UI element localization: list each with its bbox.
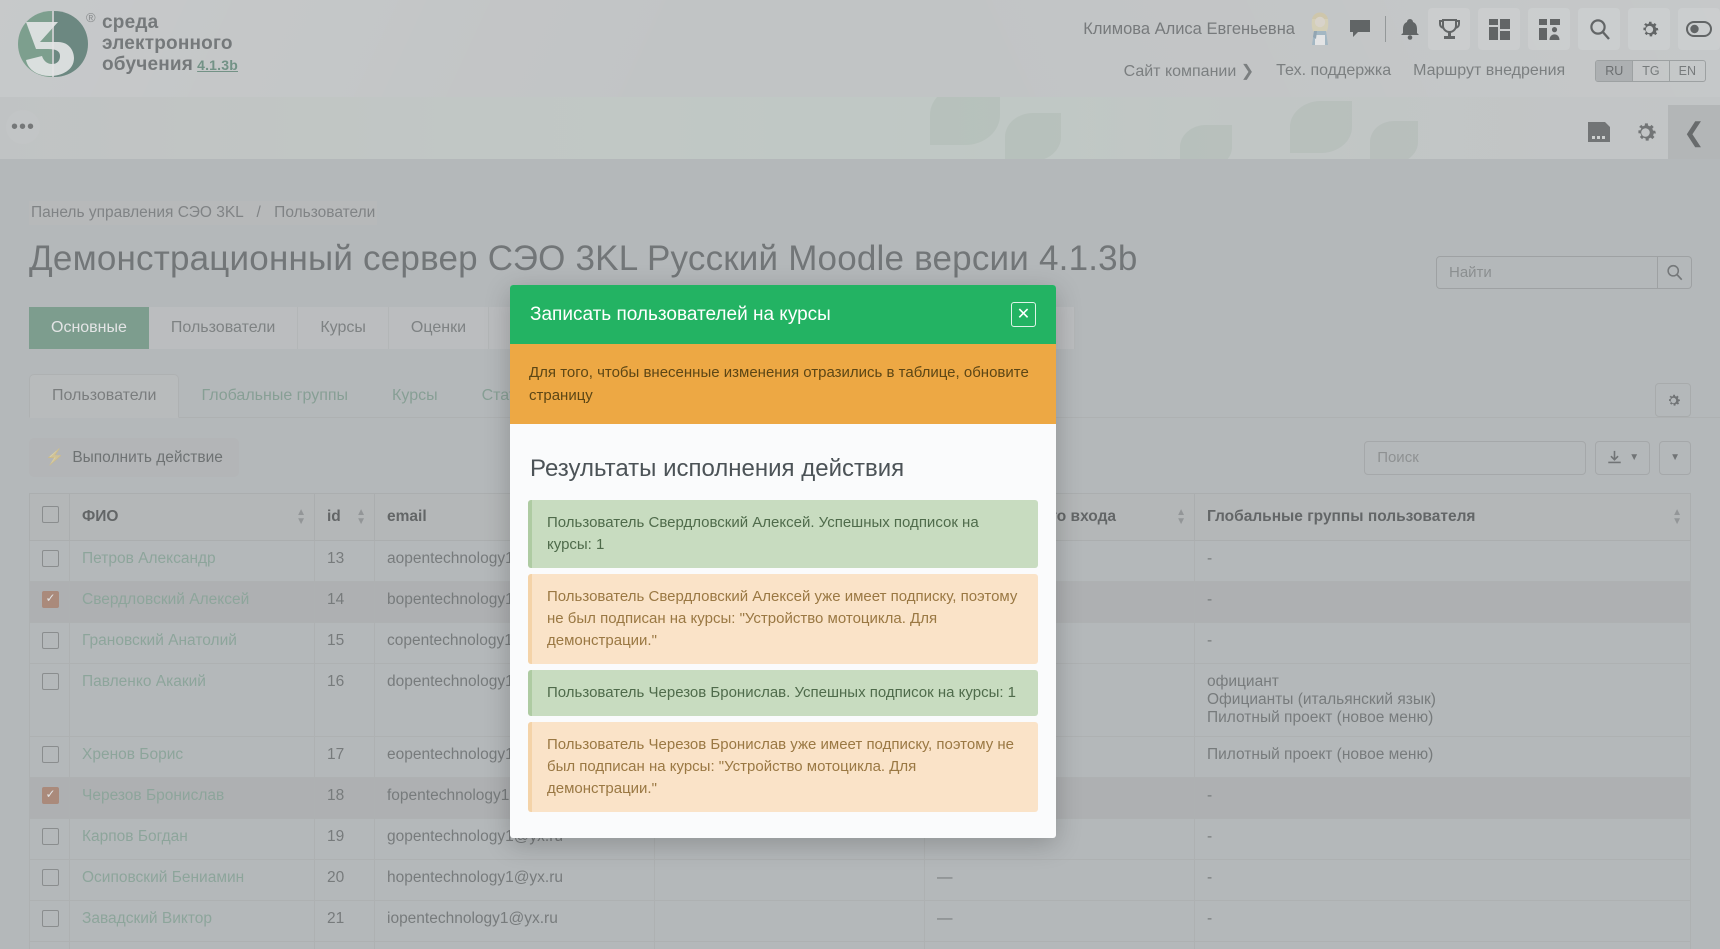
user-name-label: Климова Алиса Евгеньевна	[1083, 20, 1295, 39]
modal-header: Записать пользователей на курсы ✕	[510, 285, 1056, 344]
group-entry: Пилотный проект (новое меню)	[1207, 709, 1678, 727]
chevron-down-icon: ❯	[1241, 63, 1254, 80]
row-checkbox-cell[interactable]	[30, 778, 70, 819]
group-entry: -	[1207, 910, 1678, 928]
table-toolbar-right: ▼ ▼	[1364, 441, 1691, 475]
global-find	[1436, 256, 1692, 289]
modal-results-heading: Результаты исполнения действия	[530, 455, 1038, 483]
row-id-cell: 15	[315, 623, 375, 664]
row-email-cell: mhin@yx.ru	[375, 942, 655, 949]
user-link[interactable]: Петров Александр	[82, 550, 216, 567]
logo-line-3: обучения	[102, 54, 193, 75]
table-row[interactable]: Завадский Виктор21iopentechnology1@yx.ru…	[30, 901, 1691, 942]
row-checkbox-cell[interactable]	[30, 942, 70, 949]
row-name-cell: Осиповский Бениамин	[70, 860, 315, 901]
row-name-cell: Тестов Тест	[70, 942, 315, 949]
logo-3kl-icon: ®	[14, 8, 92, 80]
subtab-courses[interactable]: Курсы	[370, 375, 460, 417]
row-checkbox[interactable]	[42, 591, 59, 608]
breadcrumb-item-users[interactable]: Пользователи	[274, 204, 375, 221]
row-checkbox[interactable]	[42, 746, 59, 763]
row-id-cell: 16	[315, 664, 375, 737]
row-checkbox-cell[interactable]	[30, 541, 70, 582]
row-groups-cell: -	[1195, 582, 1691, 623]
top-header-bar: ® среда электронного обучения 4.1.3b Кли…	[0, 0, 1720, 97]
result-message: Пользователь Свердловский Алексей. Успеш…	[528, 500, 1038, 568]
user-link[interactable]: Осиповский Бениамин	[82, 869, 244, 886]
row-groups-cell: -	[1195, 778, 1691, 819]
lightning-icon: ⚡	[45, 448, 64, 467]
tab-kursy[interactable]: Курсы	[298, 307, 389, 349]
row-checkbox[interactable]	[42, 673, 59, 690]
row-groups-cell: -	[1195, 819, 1691, 860]
result-message: Пользователь Черезов Бронислав. Успешных…	[528, 670, 1038, 716]
row-name-cell: Павленко Акакий	[70, 664, 315, 737]
row-groups-cell: -	[1195, 541, 1691, 582]
page-banner	[0, 97, 1720, 159]
col-groups-label: Глобальные группы пользователя	[1207, 508, 1475, 525]
lang-ru[interactable]: RU	[1596, 61, 1632, 81]
group-entry: официант	[1207, 673, 1678, 691]
row-checkbox-cell[interactable]	[30, 737, 70, 778]
group-entry: -	[1207, 591, 1678, 609]
row-id-cell: 17	[315, 737, 375, 778]
row-last-login-cell: —	[925, 860, 1195, 901]
row-checkbox-cell[interactable]	[30, 860, 70, 901]
header-divider	[1385, 16, 1386, 42]
app-root: ® среда электронного обучения 4.1.3b Кли…	[0, 0, 1720, 949]
execute-action-label: Выполнить действие	[72, 449, 223, 467]
tab-polzovateli[interactable]: Пользователи	[149, 307, 298, 349]
row-checkbox-cell[interactable]	[30, 582, 70, 623]
row-groups-cell: -	[1195, 901, 1691, 942]
group-entry: -	[1207, 828, 1678, 846]
table-row[interactable]: Осиповский Бениамин20hopentechnology1@yx…	[30, 860, 1691, 901]
banner-more-button[interactable]: •••	[6, 110, 40, 144]
header-secondary-nav: Сайт компании ❯ Тех. поддержка Маршрут в…	[1124, 60, 1706, 82]
user-link[interactable]: Карпов Богдан	[82, 828, 188, 845]
columns-settings-icon[interactable]	[1655, 383, 1691, 417]
users-grid-icon[interactable]	[1528, 8, 1570, 50]
row-checkbox-cell[interactable]	[30, 664, 70, 737]
row-checkbox-cell[interactable]	[30, 819, 70, 860]
breadcrumb-item-dashboard[interactable]: Панель управления СЭО 3KL	[31, 204, 243, 221]
row-id-cell: 20	[315, 860, 375, 901]
message-icon[interactable]	[1349, 19, 1371, 39]
search-input[interactable]	[1364, 441, 1586, 475]
row-name-cell: Карпов Богдан	[70, 819, 315, 860]
col-id-label: id	[327, 508, 341, 525]
row-id-cell: 19	[315, 819, 375, 860]
row-name-cell: Свердловский Алексей	[70, 582, 315, 623]
logo-line-2: электронного	[102, 33, 238, 54]
group-entry: Официанты (итальянский язык)	[1207, 691, 1678, 709]
sort-icon: ▲▼	[356, 508, 366, 526]
row-last-login-cell: —	[925, 901, 1195, 942]
logo-line-1: среда	[102, 12, 238, 33]
find-input[interactable]	[1436, 256, 1658, 289]
nav-site-company-label: Сайт компании	[1124, 63, 1237, 80]
row-groups-cell: -	[1195, 942, 1691, 949]
export-button[interactable]: ▼	[1595, 441, 1650, 475]
nav-support[interactable]: Тех. поддержка	[1276, 62, 1391, 80]
row-groups-cell: официантОфицианты (итальянский язык)Пило…	[1195, 664, 1691, 737]
table-row[interactable]: Тестов Тест22mhin@yx.ru—-	[30, 942, 1691, 949]
row-checkbox[interactable]	[42, 828, 59, 845]
col-fio-label: ФИО	[82, 508, 118, 525]
lang-tg[interactable]: TG	[1632, 61, 1668, 81]
row-id-cell: 22	[315, 942, 375, 949]
nav-site-company[interactable]: Сайт компании ❯	[1124, 61, 1255, 81]
toggle-icon[interactable]	[1678, 8, 1720, 50]
row-id-cell: 18	[315, 778, 375, 819]
nav-rollout[interactable]: Маршрут внедрения	[1413, 62, 1565, 80]
result-message: Пользователь Черезов Бронислав уже имеет…	[528, 722, 1038, 812]
sort-icon: ▲▼	[296, 508, 306, 526]
collapse-left-icon[interactable]: ❮	[1668, 105, 1720, 159]
bell-icon[interactable]	[1400, 18, 1420, 40]
user-link[interactable]: Хренов Борис	[82, 746, 183, 763]
row-id-cell: 13	[315, 541, 375, 582]
more-options-button[interactable]: ▼	[1659, 441, 1691, 475]
col-email-label: email	[387, 508, 427, 525]
lang-en[interactable]: EN	[1669, 61, 1705, 81]
sort-icon: ▲▼	[1176, 508, 1186, 526]
registered-mark: ®	[86, 10, 96, 25]
find-search-icon[interactable]	[1658, 256, 1692, 289]
group-entry: -	[1207, 869, 1678, 887]
gear-icon[interactable]	[1622, 109, 1668, 155]
row-groups-cell: -	[1195, 860, 1691, 901]
modal-title: Записать пользователей на курсы	[530, 304, 831, 326]
select-all-checkbox[interactable]	[42, 506, 59, 523]
row-id-cell: 21	[315, 901, 375, 942]
banner-actions: ❮	[1576, 105, 1720, 159]
user-link[interactable]: Павленко Акакий	[82, 673, 206, 690]
row-name-cell: Черезов Бронислав	[70, 778, 315, 819]
row-checkbox-cell[interactable]	[30, 623, 70, 664]
row-name-cell: Грановский Анатолий	[70, 623, 315, 664]
row-name-cell: Петров Александр	[70, 541, 315, 582]
row-checkbox[interactable]	[42, 550, 59, 567]
row-created-cell	[655, 901, 925, 942]
search-icon[interactable]	[1578, 8, 1620, 50]
row-created-cell	[655, 860, 925, 901]
header-user-area: Климова Алиса Евгеньевна	[1083, 8, 1720, 50]
chevron-down-icon: ▼	[1629, 452, 1639, 463]
col-fio[interactable]: ФИО▲▼	[70, 494, 315, 541]
enroll-users-modal: Записать пользователей на курсы ✕ Для то…	[510, 285, 1056, 838]
col-groups[interactable]: Глобальные группы пользователя▲▼	[1195, 494, 1691, 541]
group-entry: -	[1207, 550, 1678, 568]
chevron-down-icon: ▼	[1670, 452, 1680, 463]
user-link[interactable]: Грановский Анатолий	[82, 632, 237, 649]
user-link[interactable]: Завадский Виктор	[82, 910, 212, 927]
modal-body: Для того, чтобы внесенные изменения отра…	[510, 344, 1056, 838]
breadcrumb: Панель управления СЭО 3KL / Пользователи	[29, 201, 377, 225]
breadcrumb-separator: /	[257, 204, 261, 221]
row-groups-cell: Пилотный проект (новое меню)	[1195, 737, 1691, 778]
row-checkbox[interactable]	[42, 869, 59, 886]
subtab-global-groups[interactable]: Глобальные группы	[179, 375, 370, 417]
row-email-cell: iopentechnology1@yx.ru	[375, 901, 655, 942]
dashboard-icon[interactable]	[1478, 8, 1520, 50]
row-groups-cell: -	[1195, 623, 1691, 664]
group-entry: -	[1207, 632, 1678, 650]
row-name-cell: Завадский Виктор	[70, 901, 315, 942]
logo-version-link[interactable]: 4.1.3b	[197, 55, 238, 76]
tab-osnovnye[interactable]: Основные	[29, 307, 149, 349]
logo-text: среда электронного обучения 4.1.3b	[102, 12, 238, 76]
language-switcher[interactable]: RU TG EN	[1595, 60, 1706, 82]
row-checkbox-cell[interactable]	[30, 901, 70, 942]
user-link[interactable]: Свердловский Алексей	[82, 591, 249, 608]
row-checkbox[interactable]	[42, 787, 59, 804]
tab-ocenki[interactable]: Оценки	[389, 307, 489, 349]
modal-results-list: Пользователь Свердловский Алексей. Успеш…	[528, 500, 1038, 812]
row-checkbox[interactable]	[42, 910, 59, 927]
col-id[interactable]: id▲▼	[315, 494, 375, 541]
row-last-login-cell: —	[925, 942, 1195, 949]
select-all-header[interactable]	[30, 494, 70, 541]
user-link[interactable]: Черезов Бронислав	[82, 787, 224, 804]
avatar[interactable]	[1305, 12, 1335, 46]
sort-icon: ▲▼	[1672, 508, 1682, 526]
row-email-cell: hopentechnology1@yx.ru	[375, 860, 655, 901]
group-entry: Пилотный проект (новое меню)	[1207, 746, 1678, 764]
row-id-cell: 14	[315, 582, 375, 623]
sd-card-icon[interactable]	[1576, 109, 1622, 155]
gear-icon[interactable]	[1628, 8, 1670, 50]
trophy-icon[interactable]	[1428, 8, 1470, 50]
modal-warning-banner: Для того, чтобы внесенные изменения отра…	[510, 344, 1056, 424]
row-name-cell: Хренов Борис	[70, 737, 315, 778]
group-entry: -	[1207, 787, 1678, 805]
row-created-cell	[655, 942, 925, 949]
close-icon[interactable]: ✕	[1011, 302, 1036, 327]
result-message: Пользователь Свердловский Алексей уже им…	[528, 574, 1038, 664]
execute-action-button[interactable]: ⚡ Выполнить действие	[29, 438, 239, 477]
row-checkbox[interactable]	[42, 632, 59, 649]
subtab-users[interactable]: Пользователи	[29, 374, 179, 418]
site-logo[interactable]: ® среда электронного обучения 4.1.3b	[14, 8, 238, 80]
download-icon	[1606, 450, 1623, 466]
